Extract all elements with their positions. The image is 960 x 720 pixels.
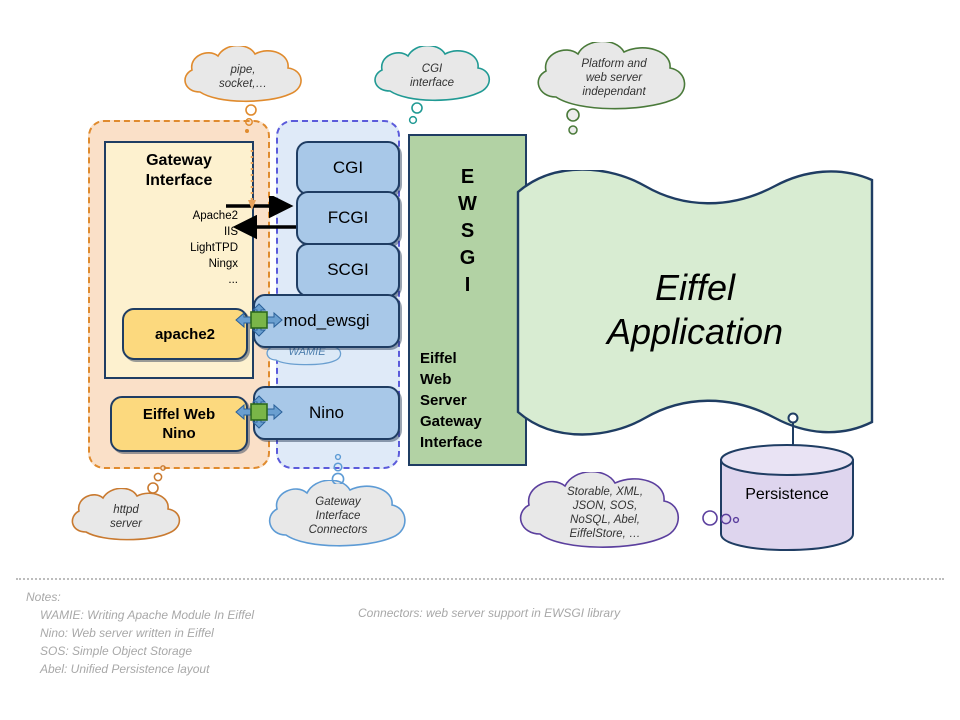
- flag-label: Eiffel Application: [515, 266, 875, 354]
- persistence-cylinder[interactable]: Persistence: [718, 442, 856, 552]
- pipe-socket-dotted-arrow: [244, 150, 260, 212]
- cloud-persistence-formats: [512, 472, 698, 554]
- connector-cgi-label: CGI: [333, 158, 363, 178]
- ewsgi-sub-interface: Interface: [420, 432, 483, 453]
- connector-mod-ewsgi-label: mod_ewsgi: [284, 311, 370, 331]
- note-connectors: Connectors: web server support in EWSGI …: [358, 606, 620, 620]
- eiffel-application-flag[interactable]: Eiffel Application: [515, 170, 875, 460]
- cloud-platform-independant: [530, 42, 698, 114]
- diagram-canvas: Gateway Interface Apache2 IIS LightTPD N…: [0, 0, 960, 720]
- ewsgi-expansion: Eiffel Web Server Gateway Interface: [420, 348, 483, 453]
- notes-block: Notes: WAMIE: Writing Apache Module In E…: [26, 588, 254, 678]
- connector-fcgi[interactable]: FCGI: [296, 191, 400, 245]
- connector-plug-icon: [234, 303, 284, 337]
- note-sos: SOS: Simple Object Storage: [26, 642, 254, 660]
- cloud-cgi-tail: [404, 102, 426, 128]
- notes-separator: [16, 578, 944, 580]
- flag-label-line2: Application: [515, 310, 875, 354]
- note-wamie: WAMIE: Writing Apache Module In Eiffel: [26, 606, 254, 624]
- cloud-pipe-socket-tail: [240, 104, 262, 134]
- ewsgi-letter-w: W: [410, 191, 525, 218]
- flag-label-line1: Eiffel: [515, 266, 875, 310]
- cloud-persistence-tail: [700, 506, 740, 530]
- persistence-label: Persistence: [718, 486, 856, 504]
- connector-nino-label: Nino: [309, 403, 344, 423]
- cloud-httpd-tail: [144, 463, 170, 493]
- apache2-box[interactable]: apache2: [122, 308, 248, 360]
- ewsgi-sub-web: Web: [420, 369, 483, 390]
- bidirectional-arrows: [224, 196, 302, 240]
- ewsgi-panel[interactable]: E W S G I Eiffel Web Server Gateway Inte…: [408, 134, 527, 466]
- ewsgi-letter-g: G: [410, 245, 525, 272]
- eiffel-web-nino-label: Eiffel Web Nino: [143, 405, 215, 443]
- server-ellipsis: ...: [190, 272, 238, 288]
- eiffel-web-nino-box[interactable]: Eiffel Web Nino: [110, 396, 248, 452]
- cloud-gateway-connectors-tail: [326, 452, 350, 484]
- cloud-platform-tail: [562, 108, 584, 138]
- ewsgi-sub-gateway: Gateway: [420, 411, 483, 432]
- cloud-pipe-socket: [178, 46, 308, 108]
- note-nino: Nino: Web server written in Eiffel: [26, 624, 254, 642]
- gateway-title-line2: Interface: [106, 171, 252, 191]
- connector-scgi[interactable]: SCGI: [296, 243, 400, 297]
- gateway-title-line1: Gateway: [106, 151, 252, 171]
- cloud-httpd-server: [66, 488, 186, 546]
- connector-fcgi-label: FCGI: [328, 208, 369, 228]
- cloud-cgi-interface: [368, 46, 496, 106]
- ewsgi-letter-i: I: [410, 272, 525, 299]
- ewsgi-letter-s: S: [410, 218, 525, 245]
- server-lighttpd: LightTPD: [190, 240, 238, 256]
- ewn-label-line1: Eiffel Web: [143, 406, 215, 423]
- ewsgi-acronym: E W S G I: [410, 164, 525, 299]
- ewsgi-sub-eiffel: Eiffel: [420, 348, 483, 369]
- connector-cgi[interactable]: CGI: [296, 141, 400, 195]
- ewn-label-line2: Nino: [162, 425, 195, 442]
- cloud-gateway-connectors: [262, 480, 414, 552]
- gateway-interface-title: Gateway Interface: [106, 151, 252, 191]
- server-ningx: Ningx: [190, 256, 238, 272]
- connector-plug-icon-nino: [234, 395, 284, 429]
- ewsgi-sub-server: Server: [420, 390, 483, 411]
- connector-scgi-label: SCGI: [327, 260, 369, 280]
- apache2-label: apache2: [155, 325, 215, 344]
- note-abel: Abel: Unified Persistence layout: [26, 660, 254, 678]
- notes-heading: Notes:: [26, 588, 254, 606]
- ewsgi-letter-e: E: [410, 164, 525, 191]
